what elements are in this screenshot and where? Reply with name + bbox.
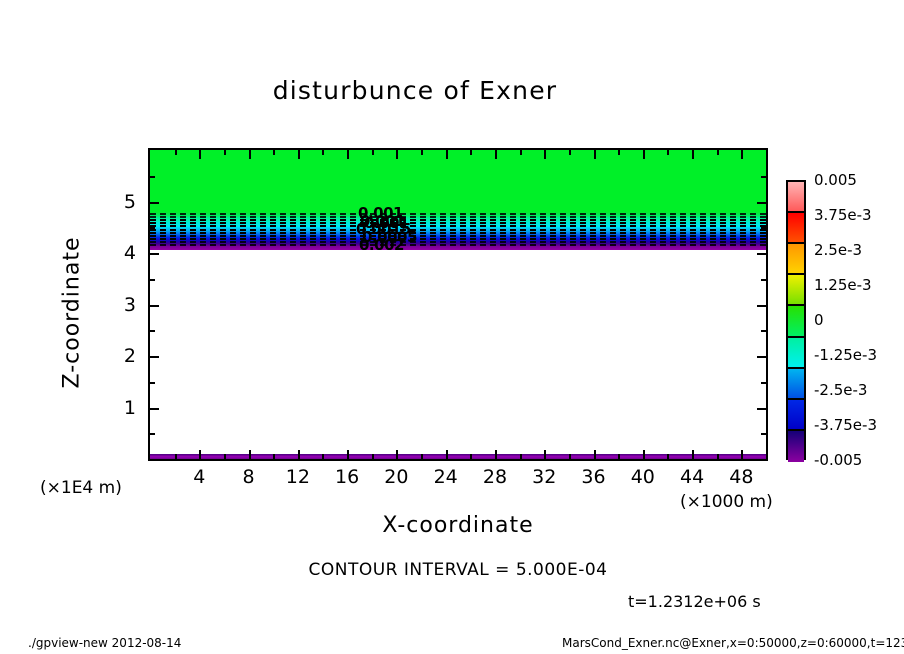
y-tick xyxy=(150,176,155,178)
x-axis-units-label: (×1000 m) xyxy=(680,492,773,512)
x-tick-label: 40 xyxy=(631,466,655,488)
x-tick xyxy=(322,150,324,155)
x-tick xyxy=(322,454,324,459)
colorbar-band xyxy=(788,338,804,369)
field-region-bottom-purple-strip xyxy=(150,454,766,459)
y-tick xyxy=(757,253,766,255)
x-tick xyxy=(372,454,374,459)
x-tick-label: 4 xyxy=(193,466,205,488)
x-axis-title: X-coordinate xyxy=(148,513,768,538)
y-tick xyxy=(150,253,159,255)
x-tick xyxy=(421,454,423,459)
x-tick xyxy=(347,450,349,459)
x-tick-label: 20 xyxy=(384,466,408,488)
x-tick xyxy=(569,150,571,155)
y-tick xyxy=(761,227,766,229)
colorbar-band xyxy=(788,275,804,306)
x-tick xyxy=(741,150,743,159)
x-tick xyxy=(667,150,669,155)
x-tick xyxy=(544,450,546,459)
x-tick-label: 24 xyxy=(434,466,458,488)
x-tick xyxy=(273,150,275,155)
y-tick xyxy=(150,356,159,358)
x-tick-label: 44 xyxy=(680,466,704,488)
x-tick xyxy=(421,150,423,155)
y-tick xyxy=(761,330,766,332)
y-tick xyxy=(757,356,766,358)
y-tick-label: 2 xyxy=(104,345,136,367)
x-tick xyxy=(594,150,596,159)
colorbar-tick-label: 3.75e-3 xyxy=(814,206,872,224)
footer-source-description: MarsCond_Exner.nc@Exner,x=0:50000,z=0:60… xyxy=(562,636,904,650)
colorbar-tick-label: 0.005 xyxy=(814,171,857,189)
contour-line xyxy=(150,219,766,221)
time-stamp-note: t=1.2312e+06 s xyxy=(628,592,761,611)
colorbar-band xyxy=(788,306,804,337)
y-tick xyxy=(757,305,766,307)
x-tick xyxy=(347,150,349,159)
contour-interval-note: CONTOUR INTERVAL = 5.000E-04 xyxy=(148,560,768,580)
colorbar-tick-label: 2.5e-3 xyxy=(814,241,862,259)
colorbar-band xyxy=(788,431,804,462)
x-tick xyxy=(249,450,251,459)
x-tick xyxy=(766,454,768,459)
colorbar-band xyxy=(788,213,804,244)
contour-line xyxy=(150,229,766,231)
contour-line xyxy=(150,222,766,224)
y-tick xyxy=(761,279,766,281)
x-tick xyxy=(175,454,177,459)
x-tick xyxy=(372,150,374,155)
y-tick-label: 5 xyxy=(104,191,136,213)
y-axis-units-label: (×1E4 m) xyxy=(40,478,122,498)
y-tick xyxy=(757,202,766,204)
y-tick-label: 3 xyxy=(104,294,136,316)
contour-line xyxy=(150,241,766,243)
x-tick-label: 48 xyxy=(729,466,753,488)
colorbar-tick-label: -3.75e-3 xyxy=(814,416,877,434)
plot-area: 0.0010.0010.00150.00050.0020.001 xyxy=(148,148,768,461)
x-tick xyxy=(224,150,226,155)
x-tick-label: 12 xyxy=(286,466,310,488)
y-tick xyxy=(150,330,155,332)
x-tick xyxy=(643,150,645,159)
x-tick xyxy=(273,454,275,459)
colorbar-band xyxy=(788,369,804,400)
y-tick xyxy=(150,305,159,307)
y-axis-title: Z-coordinate xyxy=(60,193,85,433)
y-tick xyxy=(761,433,766,435)
x-tick xyxy=(618,150,620,155)
y-tick xyxy=(761,382,766,384)
x-tick xyxy=(298,450,300,459)
page-title: disturbunce of Exner xyxy=(0,76,830,105)
colorbar-tick-label: -0.005 xyxy=(814,451,862,469)
x-tick-label: 36 xyxy=(581,466,605,488)
x-tick xyxy=(692,450,694,459)
colorbar-band xyxy=(788,182,804,213)
x-tick xyxy=(643,450,645,459)
footer-command-date: ./gpview-new 2012-08-14 xyxy=(28,636,181,650)
y-tick xyxy=(757,408,766,410)
x-tick-label: 16 xyxy=(335,466,359,488)
colorbar-tick-label: 0 xyxy=(814,311,824,329)
y-tick xyxy=(150,279,155,281)
x-tick xyxy=(692,150,694,159)
x-tick xyxy=(446,150,448,159)
x-tick-label: 28 xyxy=(483,466,507,488)
x-tick xyxy=(396,450,398,459)
x-tick xyxy=(569,454,571,459)
x-tick xyxy=(249,150,251,159)
contour-line xyxy=(150,225,766,227)
colorbar xyxy=(786,180,806,460)
x-tick xyxy=(618,454,620,459)
contour-line xyxy=(150,238,766,240)
x-tick xyxy=(199,450,201,459)
x-tick xyxy=(717,454,719,459)
y-tick-label: 1 xyxy=(104,397,136,419)
x-tick xyxy=(717,150,719,155)
x-tick xyxy=(766,150,768,155)
y-tick xyxy=(150,382,155,384)
x-tick xyxy=(495,450,497,459)
x-tick xyxy=(667,454,669,459)
contour-line xyxy=(150,232,766,234)
y-tick xyxy=(150,408,159,410)
x-tick xyxy=(175,150,177,155)
y-tick xyxy=(150,433,155,435)
colorbar-tick-label: -1.25e-3 xyxy=(814,346,877,364)
contour-line xyxy=(150,213,766,215)
y-tick xyxy=(150,202,159,204)
x-tick xyxy=(520,454,522,459)
colorbar-band xyxy=(788,244,804,275)
field-region-blank xyxy=(150,250,766,455)
colorbar-band xyxy=(788,400,804,431)
x-tick xyxy=(520,150,522,155)
y-tick xyxy=(761,176,766,178)
x-tick xyxy=(741,450,743,459)
x-tick xyxy=(298,150,300,159)
y-tick xyxy=(150,227,155,229)
x-tick xyxy=(470,454,472,459)
x-tick xyxy=(470,150,472,155)
colorbar-tick-label: -2.5e-3 xyxy=(814,381,867,399)
colorbar-tick-label: 1.25e-3 xyxy=(814,276,872,294)
x-tick-label: 32 xyxy=(532,466,556,488)
x-tick xyxy=(446,450,448,459)
y-tick-label: 4 xyxy=(104,242,136,264)
x-tick xyxy=(544,150,546,159)
contour-line xyxy=(150,235,766,237)
x-tick-label: 8 xyxy=(243,466,255,488)
field-region-uniform-green xyxy=(150,150,766,212)
x-tick xyxy=(396,150,398,159)
x-tick xyxy=(199,150,201,159)
x-tick xyxy=(594,450,596,459)
x-tick xyxy=(224,454,226,459)
x-tick xyxy=(495,150,497,159)
contour-line xyxy=(150,216,766,218)
contour-line xyxy=(150,244,766,246)
